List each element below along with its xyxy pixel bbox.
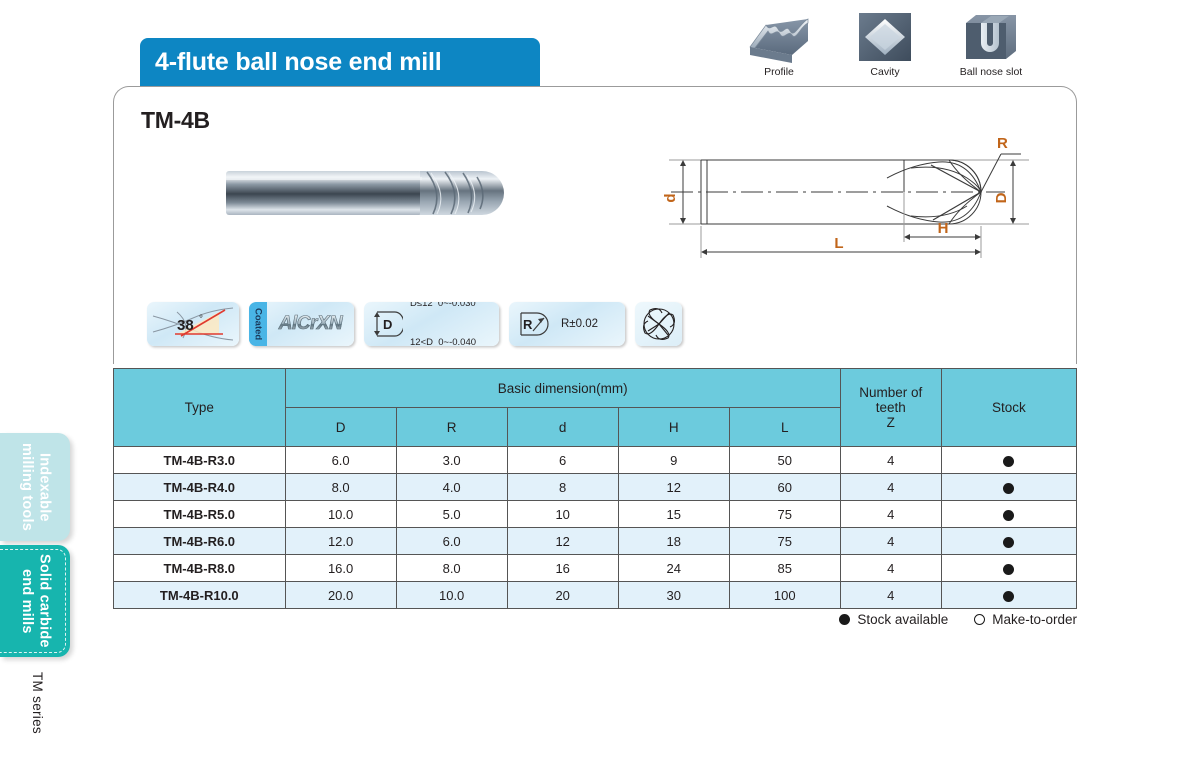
model-code: TM-4B xyxy=(141,107,210,134)
cell-stock xyxy=(941,501,1076,528)
series-label: TM series xyxy=(30,672,45,734)
helix-angle-value: 38 xyxy=(177,317,194,334)
table-row: TM-4B-R4.08.04.0812604 xyxy=(114,474,1077,501)
cell-R: 3.0 xyxy=(396,447,507,474)
filled-circle-icon xyxy=(1003,510,1014,521)
cell-R: 6.0 xyxy=(396,528,507,555)
cell-Z: 4 xyxy=(840,447,941,474)
application-caption: Ball nose slot xyxy=(960,66,1022,78)
cell-type: TM-4B-R10.0 xyxy=(114,582,286,609)
radius-tolerance-badge: R R±0.02 xyxy=(509,302,625,346)
cell-D: 10.0 xyxy=(285,501,396,528)
helix-degree-symbol: ° xyxy=(199,314,203,325)
header-teeth-line-3: Z xyxy=(842,415,940,430)
table-row: TM-4B-R8.016.08.01624854 xyxy=(114,555,1077,582)
cell-H: 15 xyxy=(618,501,729,528)
cell-H: 12 xyxy=(618,474,729,501)
cell-d: 8 xyxy=(507,474,618,501)
header-stock: Stock xyxy=(941,369,1076,447)
diameter-tolerance-text: D≤12 0~-0.030 12<D 0~-0.040 xyxy=(410,302,476,346)
cell-d: 20 xyxy=(507,582,618,609)
cell-type: TM-4B-R5.0 xyxy=(114,501,286,528)
application-caption: Cavity xyxy=(870,66,899,78)
sidebar-item-label: Indexable milling tools xyxy=(17,433,52,541)
cell-L: 100 xyxy=(729,582,840,609)
header-dim-L: L xyxy=(729,408,840,447)
header-dim-d: d xyxy=(507,408,618,447)
legend-stock-available: Stock available xyxy=(839,612,948,627)
cell-type: TM-4B-R3.0 xyxy=(114,447,286,474)
spec-badge-group: 38 ° Coated AlCrXN D D≤12 0~-0.030 12<D … xyxy=(147,302,682,346)
coated-label: Coated xyxy=(253,308,264,340)
filled-circle-icon xyxy=(1003,564,1014,575)
sidebar-item-label: Solid carbide end mills xyxy=(17,545,52,657)
product-card: TM-4B xyxy=(113,86,1077,364)
cell-stock xyxy=(941,582,1076,609)
header-dim-D: D xyxy=(285,408,396,447)
cell-L: 60 xyxy=(729,474,840,501)
page-title: 4-flute ball nose end mill xyxy=(140,48,442,77)
application-icon-group: Profile Cavity xyxy=(745,10,1065,88)
cell-L: 50 xyxy=(729,447,840,474)
table-header-row-1: Type Basic dimension(mm) Number of teeth… xyxy=(114,369,1077,408)
cell-L: 75 xyxy=(729,528,840,555)
legend-make-to-order: Make-to-order xyxy=(974,612,1077,627)
application-profile: Profile xyxy=(745,10,813,88)
cell-type: TM-4B-R8.0 xyxy=(114,555,286,582)
drawing-label-d: d xyxy=(662,193,679,202)
coated-strip: Coated xyxy=(249,302,267,346)
cell-Z: 4 xyxy=(840,555,941,582)
header-dim-R: R xyxy=(396,408,507,447)
cavity-icon xyxy=(857,10,913,64)
stock-legend: Stock available Make-to-order xyxy=(113,612,1077,627)
filled-circle-icon xyxy=(1003,537,1014,548)
diameter-tolerance-badge: D D≤12 0~-0.030 12<D 0~-0.040 xyxy=(364,302,499,346)
table-row: TM-4B-R5.010.05.01015754 xyxy=(114,501,1077,528)
cell-L: 85 xyxy=(729,555,840,582)
cell-stock xyxy=(941,474,1076,501)
header-number-of-teeth: Number of teeth Z xyxy=(840,369,941,447)
cell-D: 6.0 xyxy=(285,447,396,474)
profile-icon xyxy=(746,10,812,64)
cell-D: 16.0 xyxy=(285,555,396,582)
legend-label: Stock available xyxy=(857,612,948,627)
cell-D: 20.0 xyxy=(285,582,396,609)
cell-R: 4.0 xyxy=(396,474,507,501)
application-caption: Profile xyxy=(764,66,794,78)
cell-stock xyxy=(941,447,1076,474)
table-row: TM-4B-R6.012.06.01218754 xyxy=(114,528,1077,555)
filled-circle-icon xyxy=(839,614,850,625)
header-dim-H: H xyxy=(618,408,729,447)
helix-angle-badge: 38 ° xyxy=(147,302,239,346)
flute-count-badge xyxy=(635,302,682,346)
sidebar-item-indexable-milling-tools[interactable]: Indexable milling tools xyxy=(0,433,70,541)
drawing-label-R: R xyxy=(997,135,1008,152)
specification-table: Type Basic dimension(mm) Number of teeth… xyxy=(113,368,1077,609)
cell-Z: 4 xyxy=(840,501,941,528)
cell-d: 10 xyxy=(507,501,618,528)
cell-L: 75 xyxy=(729,501,840,528)
table-body: TM-4B-R3.06.03.069504TM-4B-R4.08.04.0812… xyxy=(114,447,1077,609)
header-teeth-line-2: teeth xyxy=(842,400,940,415)
cell-H: 9 xyxy=(618,447,729,474)
table-row: TM-4B-R3.06.03.069504 xyxy=(114,447,1077,474)
filled-circle-icon xyxy=(1003,456,1014,467)
cell-type: TM-4B-R4.0 xyxy=(114,474,286,501)
engineering-drawing: d D L H xyxy=(649,132,1049,267)
filled-circle-icon xyxy=(1003,483,1014,494)
cell-H: 18 xyxy=(618,528,729,555)
drawing-label-H: H xyxy=(938,220,949,237)
cell-d: 16 xyxy=(507,555,618,582)
header-teeth-line-1: Number of xyxy=(842,385,940,400)
cell-stock xyxy=(941,555,1076,582)
cell-D: 8.0 xyxy=(285,474,396,501)
filled-circle-icon xyxy=(1003,591,1014,602)
diameter-symbol: D xyxy=(383,317,392,332)
page-title-banner: 4-flute ball nose end mill xyxy=(140,38,540,86)
header-basic-dimension: Basic dimension(mm) xyxy=(285,369,840,408)
table-row: TM-4B-R10.020.010.020301004 xyxy=(114,582,1077,609)
application-cavity: Cavity xyxy=(851,10,919,88)
cell-R: 5.0 xyxy=(396,501,507,528)
cell-H: 24 xyxy=(618,555,729,582)
product-photo xyxy=(224,162,520,224)
cell-R: 10.0 xyxy=(396,582,507,609)
cell-D: 12.0 xyxy=(285,528,396,555)
radius-tolerance-text: R±0.02 xyxy=(561,318,598,330)
drawing-label-L: L xyxy=(834,235,843,252)
diameter-tolerance-line-1: D≤12 0~-0.030 xyxy=(410,302,476,311)
radius-symbol: R xyxy=(523,317,533,332)
cell-R: 8.0 xyxy=(396,555,507,582)
open-circle-icon xyxy=(974,614,985,625)
ball-nose-slot-icon xyxy=(962,10,1020,64)
coating-name: AlCrXN xyxy=(267,313,354,335)
application-ball-nose-slot: Ball nose slot xyxy=(957,10,1025,88)
cell-type: TM-4B-R6.0 xyxy=(114,528,286,555)
sidebar-item-solid-carbide-end-mills[interactable]: Solid carbide end mills xyxy=(0,545,70,657)
cell-Z: 4 xyxy=(840,582,941,609)
cell-Z: 4 xyxy=(840,528,941,555)
cell-d: 12 xyxy=(507,528,618,555)
cell-Z: 4 xyxy=(840,474,941,501)
cell-stock xyxy=(941,528,1076,555)
drawing-label-D: D xyxy=(993,192,1010,203)
cell-H: 30 xyxy=(618,582,729,609)
cell-d: 6 xyxy=(507,447,618,474)
coating-badge: Coated AlCrXN xyxy=(249,302,354,346)
header-type: Type xyxy=(114,369,286,447)
diameter-tolerance-line-2: 12<D 0~-0.040 xyxy=(410,337,476,346)
legend-label: Make-to-order xyxy=(992,612,1077,627)
